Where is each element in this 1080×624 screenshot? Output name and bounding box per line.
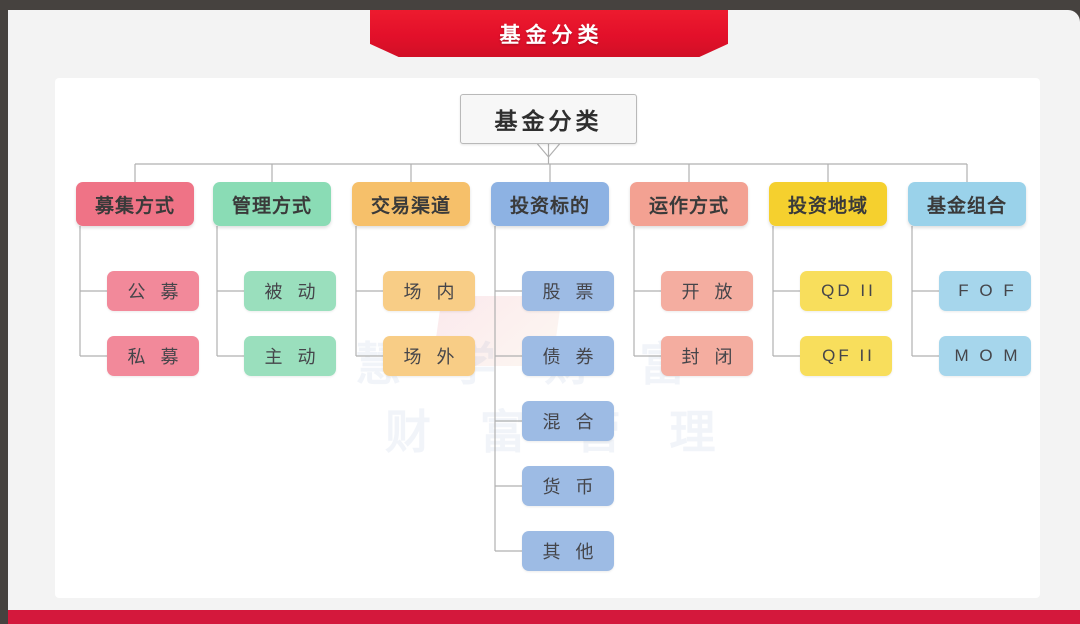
leaf-label: QF II [822,346,875,366]
leaf-node-fund-portfolio-1[interactable]: F O F [939,271,1031,311]
bottom-accent-stripe [8,610,1080,624]
header-banner: 基金分类 [370,10,728,57]
leaf-label: 被 动 [264,278,320,304]
leaf-label: 混 合 [542,408,598,434]
leaf-label: 场 外 [403,343,459,369]
category-node-trading-channel[interactable]: 交易渠道 [352,182,470,226]
leaf-label: 货 币 [542,473,598,499]
leaf-label: F O F [958,281,1016,301]
leaf-node-fundraising-method-1[interactable]: 公 募 [107,271,199,311]
leaf-node-management-method-2[interactable]: 主 动 [244,336,336,376]
root-node[interactable]: 基金分类 [460,94,637,144]
leaf-label: 私 募 [127,343,183,369]
category-node-investment-region[interactable]: 投资地域 [769,182,887,226]
leaf-label: 公 募 [127,278,183,304]
leaf-node-trading-channel-2[interactable]: 场 外 [383,336,475,376]
leaf-label: QD II [821,281,876,301]
category-label: 交易渠道 [371,191,451,218]
category-label: 基金组合 [927,191,1007,218]
leaf-node-operation-method-2[interactable]: 封 闭 [661,336,753,376]
page-surface: 基金分类 慧 学 财 富 财 富 管 理 基金分类 募集方式公 募私 募管理方式… [8,10,1080,612]
leaf-node-fund-portfolio-2[interactable]: M O M [939,336,1031,376]
leaf-node-investment-target-4[interactable]: 货 币 [522,466,614,506]
leaf-node-investment-region-1[interactable]: QD II [800,271,892,311]
leaf-label: 债 券 [542,343,598,369]
category-node-management-method[interactable]: 管理方式 [213,182,331,226]
category-node-fundraising-method[interactable]: 募集方式 [76,182,194,226]
category-label: 运作方式 [649,191,729,218]
leaf-node-operation-method-1[interactable]: 开 放 [661,271,753,311]
category-label: 管理方式 [232,191,312,218]
diagram-card: 慧 学 财 富 财 富 管 理 基金分类 募集方式公 募私 募管理方式被 动主 … [55,78,1040,598]
category-node-operation-method[interactable]: 运作方式 [630,182,748,226]
leaf-label: M O M [955,346,1021,366]
leaf-node-fundraising-method-2[interactable]: 私 募 [107,336,199,376]
leaf-label: 其 他 [542,538,598,564]
category-label: 募集方式 [95,191,175,218]
category-node-fund-portfolio[interactable]: 基金组合 [908,182,1026,226]
category-label: 投资地域 [788,191,868,218]
leaf-label: 主 动 [264,343,320,369]
leaf-label: 封 闭 [681,343,737,369]
category-node-investment-target[interactable]: 投资标的 [491,182,609,226]
leaf-node-investment-target-3[interactable]: 混 合 [522,401,614,441]
screenshot-root: 基金分类 慧 学 财 富 财 富 管 理 基金分类 募集方式公 募私 募管理方式… [0,0,1080,624]
leaf-node-trading-channel-1[interactable]: 场 内 [383,271,475,311]
leaf-node-management-method-1[interactable]: 被 动 [244,271,336,311]
leaf-node-investment-target-5[interactable]: 其 他 [522,531,614,571]
leaf-node-investment-target-2[interactable]: 债 券 [522,336,614,376]
category-label: 投资标的 [510,191,590,218]
leaf-node-investment-target-1[interactable]: 股 票 [522,271,614,311]
leaf-node-investment-region-2[interactable]: QF II [800,336,892,376]
leaf-label: 场 内 [403,278,459,304]
banner-title: 基金分类 [495,19,604,49]
leaf-label: 股 票 [542,278,598,304]
leaf-label: 开 放 [681,278,737,304]
